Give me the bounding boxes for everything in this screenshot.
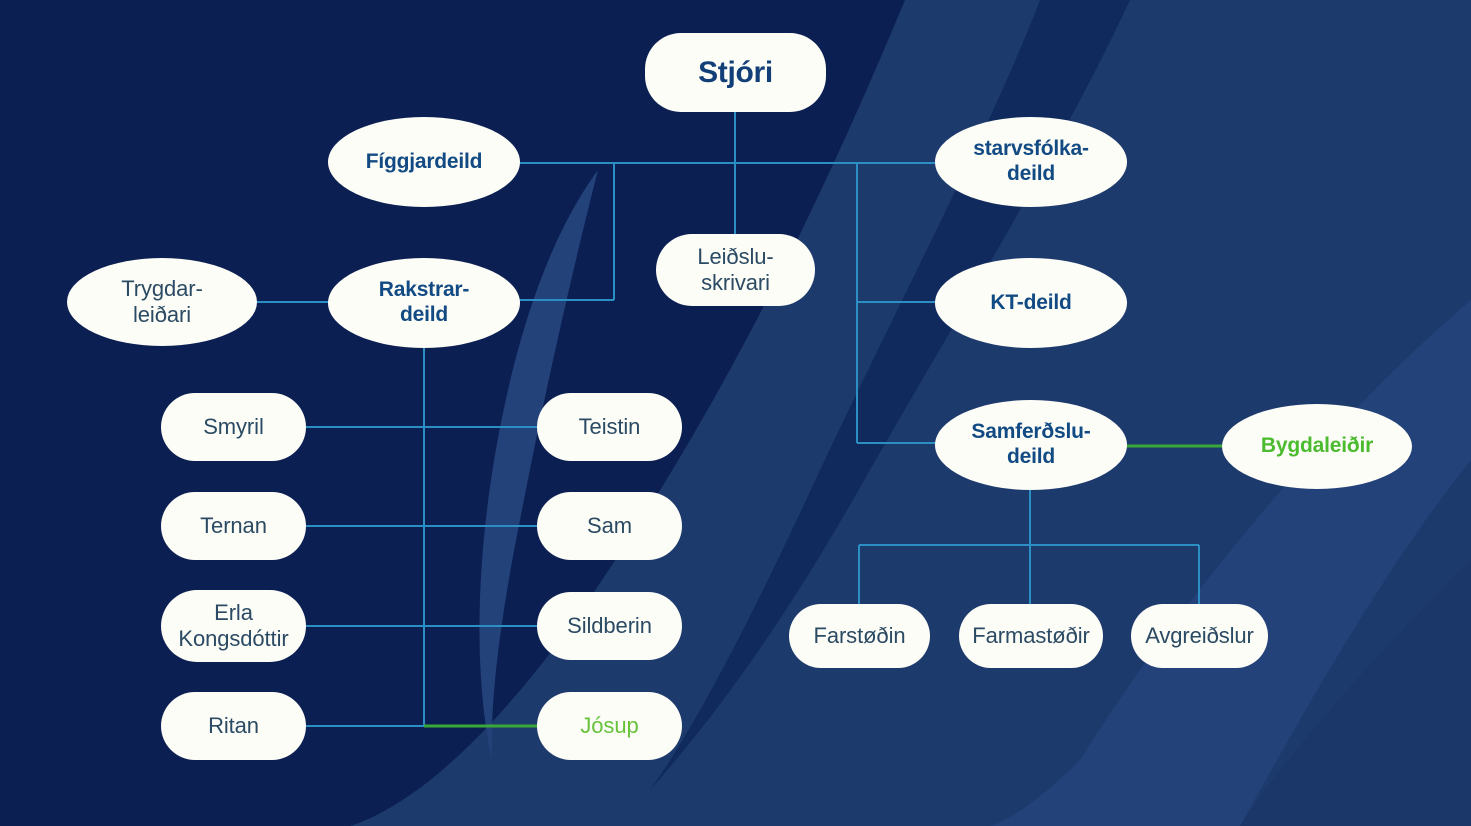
node-figgjardeild[interactable]: Fíggjardeild [328,117,520,207]
node-trygdar-leidari-label: Trygdar-leiðari [115,276,209,328]
node-sam-label: Sam [581,513,638,539]
node-josup[interactable]: Jósup [537,692,682,760]
node-figgjardeild-label: Fíggjardeild [360,150,489,175]
node-teistin-label: Teistin [573,414,647,440]
node-stjori[interactable]: Stjóri [645,33,826,112]
node-avgreidslur-label: Avgreiðslur [1139,623,1260,649]
node-bygdaleidir-label: Bygdaleiðir [1255,434,1379,459]
node-samferdslu-deild[interactable]: Samferðslu-deild [935,400,1127,490]
node-erla-kongsdottir[interactable]: ErlaKongsdóttir [161,590,306,662]
node-ritan[interactable]: Ritan [161,692,306,760]
org-chart-canvas: Stjóri Fíggjardeild starvsfólka-deild Le… [0,0,1471,826]
node-starvsfolka-deild[interactable]: starvsfólka-deild [935,117,1127,207]
node-bygdaleidir[interactable]: Bygdaleiðir [1222,404,1412,489]
node-rakstrar-deild-label: Rakstrar-deild [373,278,475,328]
node-avgreidslur[interactable]: Avgreiðslur [1131,604,1268,668]
node-ternan-label: Ternan [194,513,273,539]
node-rakstrar-deild[interactable]: Rakstrar-deild [328,258,520,348]
node-erla-kongsdottir-label: ErlaKongsdóttir [172,600,294,652]
node-ritan-label: Ritan [202,713,265,739]
node-kt-deild-label: KT-deild [984,291,1077,316]
node-stjori-label: Stjóri [692,55,779,90]
node-teistin[interactable]: Teistin [537,393,682,461]
node-farstodin-label: Farstøðin [807,623,911,649]
node-smyril-label: Smyril [197,414,270,440]
node-ternan[interactable]: Ternan [161,492,306,560]
node-sam[interactable]: Sam [537,492,682,560]
node-josup-label: Jósup [574,713,644,739]
node-farmastodir-label: Farmastøðir [966,623,1095,649]
node-leidslu-skrivari-label: Leiðslu-skrivari [691,244,779,296]
node-samferdslu-deild-label: Samferðslu-deild [965,420,1096,470]
node-farmastodir[interactable]: Farmastøðir [959,604,1103,668]
node-sildberin-label: Sildberin [561,613,658,639]
node-smyril[interactable]: Smyril [161,393,306,461]
node-leidslu-skrivari[interactable]: Leiðslu-skrivari [656,234,815,306]
node-trygdar-leidari[interactable]: Trygdar-leiðari [67,258,257,346]
node-starvsfolka-deild-label: starvsfólka-deild [967,137,1095,187]
node-farstodin[interactable]: Farstøðin [789,604,930,668]
node-kt-deild[interactable]: KT-deild [935,258,1127,348]
node-sildberin[interactable]: Sildberin [537,592,682,660]
